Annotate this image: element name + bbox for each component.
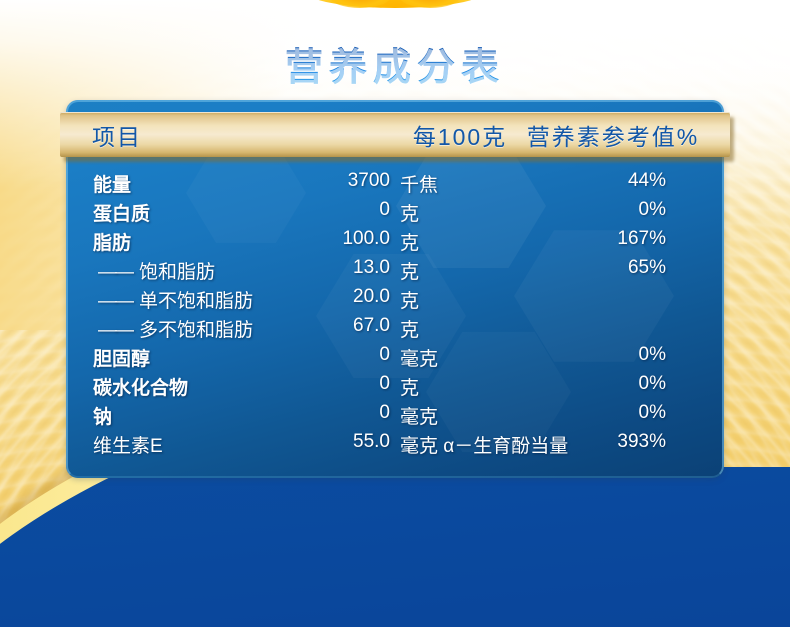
table-row: ——多不饱和脂肪67.0克	[66, 315, 724, 344]
row-unit: 克	[400, 315, 419, 342]
row-unit: 毫克 α－生育酚当量	[400, 431, 568, 458]
row-nrv-percent: 44%	[628, 170, 666, 192]
row-nrv-percent: 0%	[639, 402, 666, 424]
nutrition-facts-page: 营养成分表 项目 每100克 营养素参考值% 能量3700千焦44%蛋白质0克0…	[0, 0, 790, 627]
row-nrv-percent: 65%	[628, 257, 666, 279]
row-unit: 毫克	[400, 344, 438, 371]
row-label: 维生素E	[93, 431, 163, 458]
row-label: 蛋白质	[93, 199, 150, 226]
row-amount: 0	[256, 199, 390, 221]
table-row: 碳水化合物0克0%	[66, 373, 724, 402]
row-amount: 0	[256, 344, 390, 366]
row-nrv-percent: 0%	[639, 344, 666, 366]
row-nrv-percent: 167%	[617, 228, 666, 250]
header-bar-face: 项目 每100克 营养素参考值%	[60, 112, 730, 157]
row-amount: 67.0	[256, 315, 390, 337]
row-dash-marker: ——	[98, 291, 132, 313]
row-label: ——单不饱和脂肪	[98, 286, 253, 313]
table-row: ——单不饱和脂肪20.0克	[66, 286, 724, 315]
row-amount: 13.0	[256, 257, 390, 279]
table-row: ——饱和脂肪13.0克65%	[66, 257, 724, 286]
row-amount: 100.0	[256, 228, 390, 250]
row-label: 能量	[93, 170, 131, 197]
table-row: 能量3700千焦44%	[66, 170, 724, 199]
row-dash-marker: ——	[98, 262, 132, 284]
table-header-bar: 项目 每100克 营养素参考值%	[60, 112, 730, 157]
table-row: 蛋白质0克0%	[66, 199, 724, 228]
row-unit: 克	[400, 373, 419, 400]
row-label: 脂肪	[93, 228, 131, 255]
bottom-wave-decoration	[0, 467, 790, 627]
row-unit: 克	[400, 257, 419, 284]
row-amount: 55.0	[256, 431, 390, 453]
row-dash-marker: ——	[98, 320, 132, 342]
row-label: 胆固醇	[93, 344, 150, 371]
header-nrv-label: 营养素参考值%	[498, 118, 728, 152]
table-row: 脂肪100.0克167%	[66, 228, 724, 257]
row-unit: 克	[400, 286, 419, 313]
row-nrv-percent: 0%	[639, 199, 666, 221]
row-unit: 克	[400, 199, 419, 226]
row-label: ——多不饱和脂肪	[98, 315, 253, 342]
table-row: 胆固醇0毫克0%	[66, 344, 724, 373]
row-amount: 20.0	[256, 286, 390, 308]
row-amount: 3700	[256, 170, 390, 192]
wave-blue-fill	[0, 467, 790, 627]
row-unit: 毫克	[400, 402, 438, 429]
row-label: 碳水化合物	[93, 373, 188, 400]
page-title: 营养成分表	[0, 36, 790, 91]
nutrition-table-rows: 能量3700千焦44%蛋白质0克0%脂肪100.0克167%——饱和脂肪13.0…	[66, 170, 724, 460]
row-label: 钠	[93, 402, 112, 429]
table-row: 钠0毫克0%	[66, 402, 724, 431]
row-unit: 克	[400, 228, 419, 255]
row-amount: 0	[256, 402, 390, 424]
row-label: ——饱和脂肪	[98, 257, 215, 284]
row-nrv-percent: 393%	[617, 431, 666, 453]
header-item-label: 项目	[92, 118, 142, 152]
row-nrv-percent: 0%	[639, 373, 666, 395]
row-unit: 千焦	[400, 170, 438, 197]
table-row: 维生素E55.0毫克 α－生育酚当量393%	[66, 431, 724, 460]
row-amount: 0	[256, 373, 390, 395]
